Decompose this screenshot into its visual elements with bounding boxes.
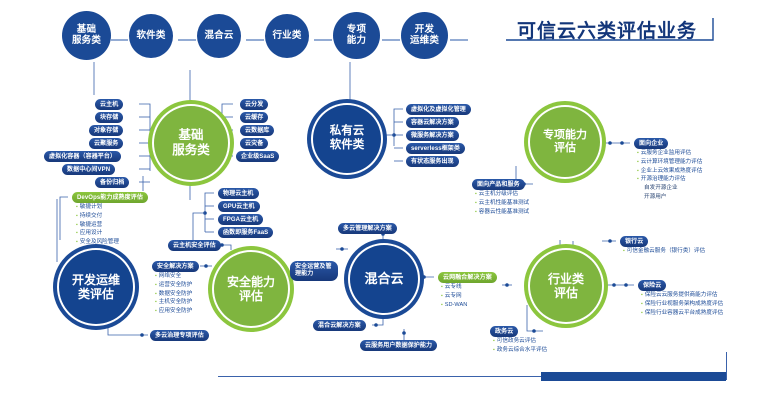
list-item: 可信政务云评估 bbox=[493, 337, 547, 346]
bottom-right-tick bbox=[726, 352, 727, 380]
top-node-line: 混合云 bbox=[204, 31, 233, 42]
chip-facing-product-service[interactable]: 面向产品和服务 bbox=[472, 179, 525, 190]
list-item: 云专线 bbox=[441, 283, 467, 292]
top-node-line: 行业类 bbox=[272, 31, 301, 42]
list-item: 保险云云服务提供商能力评估 bbox=[641, 291, 723, 300]
chip-virtualization-mgmt[interactable]: 虚拟化及虚拟化管理 bbox=[406, 104, 471, 115]
top-node-industry[interactable]: 行业类 bbox=[265, 14, 309, 58]
list-item: 主机安全防护 bbox=[155, 298, 192, 307]
list-item: 开源治理能力评估 bbox=[637, 175, 702, 184]
chip-backup-archive[interactable]: 备份归档 bbox=[95, 177, 129, 188]
chip-faas[interactable]: 函数即服务FaaS bbox=[218, 227, 273, 238]
list-item: 保险行业容器云平台成熟度评估 bbox=[641, 309, 723, 318]
list-gov-items: 可信政务云评估 政务云综合水平评估 bbox=[493, 337, 547, 355]
page-title: 可信云六类评估业务 bbox=[517, 16, 697, 43]
list-devops-items: 敏捷计划 持续交付 敏捷运营 应用设计 安全及风险管理 bbox=[76, 203, 119, 247]
chip-cloud-host[interactable]: 云主机 bbox=[95, 99, 123, 110]
top-node-line: 基础 bbox=[72, 25, 101, 36]
top-node-line: 开发 bbox=[410, 25, 439, 36]
list-item: 运营安全防护 bbox=[155, 281, 192, 290]
list-item: 持续交付 bbox=[76, 212, 119, 221]
chip-virtual-container[interactable]: 虚拟化容器（容器平台） bbox=[44, 151, 121, 162]
list-item: 容器云性能基准测试 bbox=[475, 208, 529, 217]
chip-container-cloud[interactable]: 容器云解决方案 bbox=[406, 117, 459, 128]
chip-cloud-network[interactable]: 云网融合解决方案 bbox=[438, 272, 497, 283]
list-item: 政务云综合水平评估 bbox=[493, 346, 547, 355]
top-node-basic-service[interactable]: 基础服务类 bbox=[62, 11, 111, 60]
chip-security-solution[interactable]: 安全解决方案 bbox=[152, 261, 199, 272]
list-item: 数据安全防护 bbox=[155, 290, 192, 299]
top-node-line: 专项 bbox=[347, 25, 366, 36]
hub-label-line: 行业类 bbox=[548, 272, 584, 286]
hub-label-line: 评估 bbox=[239, 289, 263, 303]
hub-special-capability[interactable]: 专项能力 评估 bbox=[528, 105, 602, 179]
top-node-software[interactable]: 软件类 bbox=[129, 14, 173, 58]
top-node-line: 能力 bbox=[347, 36, 366, 47]
list-product-items: 云主机分级评估 云主机性能基准测试 容器云性能基准测试 bbox=[475, 190, 529, 216]
chip-gov-cloud[interactable]: 政务云 bbox=[490, 326, 518, 337]
hub-label-line: 软件类 bbox=[330, 139, 365, 153]
chip-block-storage[interactable]: 块存储 bbox=[95, 112, 123, 123]
chip-multicloud-governance[interactable]: 多云治理专项评估 bbox=[150, 330, 209, 341]
chip-fpga-host[interactable]: FPGA云主机 bbox=[218, 214, 263, 225]
list-item: 企业上云效果成熟度评估 bbox=[637, 167, 702, 176]
hub-private-cloud-software[interactable]: 私有云 软件类 bbox=[311, 103, 383, 175]
list-insurance-items: 保险云云服务提供商能力评估 保险行业视服务架构成熟度评估 保险行业容器云平台成熟… bbox=[641, 291, 723, 317]
chip-bank-cloud[interactable]: 银行云 bbox=[620, 236, 648, 247]
list-item: 可信金融云服务（银行类）评估 bbox=[623, 247, 705, 256]
chip-dc-vpn[interactable]: 数据中心间VPN bbox=[62, 164, 115, 175]
top-node-hybrid-cloud[interactable]: 混合云 bbox=[197, 14, 241, 58]
list-item: 云主机性能基准测试 bbox=[475, 199, 529, 208]
chip-object-storage[interactable]: 对象存储 bbox=[89, 125, 123, 136]
list-item: 敏捷运营 bbox=[76, 221, 119, 230]
hub-label-line: 服务类 bbox=[172, 143, 210, 158]
chip-serverless[interactable]: serverless框架类 bbox=[406, 143, 465, 154]
chip-host-security-eval[interactable]: 云主机安全评估 bbox=[168, 240, 221, 251]
list-bank-items: 可信金融云服务（银行类）评估 bbox=[623, 247, 705, 256]
list-item: 云主机分级评估 bbox=[475, 190, 529, 199]
bottom-rule bbox=[218, 376, 593, 377]
chip-stateful-service[interactable]: 有状态服务出现 bbox=[406, 156, 459, 167]
hub-label-line: 专项能力 bbox=[543, 129, 587, 142]
list-subitem: 开源用户 bbox=[637, 193, 702, 202]
chip-multicloud-mgmt[interactable]: 多云管理解决方案 bbox=[338, 223, 397, 234]
list-item: 敏捷计划 bbox=[76, 203, 119, 212]
bottom-accent-bar bbox=[541, 372, 726, 381]
chip-insurance-cloud[interactable]: 保险云 bbox=[638, 280, 666, 291]
list-enterprise-items: 云服务企业监用评估 云计算环境管理能力评估 企业上云效果成熟度评估 开源治理能力… bbox=[637, 149, 702, 201]
top-node-line: 服务类 bbox=[72, 36, 101, 47]
chip-physical-host[interactable]: 物理云主机 bbox=[218, 188, 259, 199]
top-node-devops[interactable]: 开发运维类 bbox=[401, 12, 448, 59]
list-item: 应用设计 bbox=[76, 229, 119, 238]
hub-label-line: 私有云 bbox=[330, 125, 365, 139]
chip-microservice[interactable]: 微服务解决方案 bbox=[406, 130, 459, 141]
chip-security-ops[interactable]: 安全运营及管理能力 bbox=[290, 261, 338, 281]
list-subitem: 自发开源企业 bbox=[637, 184, 702, 193]
chip-cloud-dr[interactable]: 云灾备 bbox=[240, 138, 268, 149]
hub-label-line: 混合云 bbox=[364, 271, 403, 287]
chip-cloud-distribution[interactable]: 云聚服务 bbox=[89, 138, 123, 149]
hub-label-line: 基础 bbox=[178, 128, 203, 143]
chip-devops-maturity[interactable]: DevOps能力成熟度评估 bbox=[72, 192, 148, 203]
list-item: 应用安全防护 bbox=[155, 307, 192, 316]
top-node-special-capability[interactable]: 专项能力 bbox=[333, 12, 380, 59]
hub-label-line: 评估 bbox=[554, 142, 576, 155]
top-node-line: 软件类 bbox=[136, 31, 165, 42]
chip-gpu-host[interactable]: GPU云主机 bbox=[218, 201, 260, 212]
chip-cloud-cdn[interactable]: 云分发 bbox=[240, 99, 268, 110]
list-item: 云计算环境管理能力评估 bbox=[637, 158, 702, 167]
hub-label-line: 评估 bbox=[554, 286, 578, 300]
list-item: 云服务企业监用评估 bbox=[637, 149, 702, 158]
hub-security-capability[interactable]: 安全能力 评估 bbox=[212, 250, 290, 328]
hub-hybrid-cloud[interactable]: 混合云 bbox=[348, 243, 420, 315]
list-item: 云专网 bbox=[441, 292, 467, 301]
chip-enterprise-saas[interactable]: 企业级SaaS bbox=[236, 151, 279, 162]
hub-label-line: 安全能力 bbox=[227, 275, 275, 289]
list-item: 安全及风险管理 bbox=[76, 238, 119, 247]
list-item: 保险行业视服务架构成熟度评估 bbox=[641, 300, 723, 309]
chip-cloud-cache[interactable]: 云缓存 bbox=[240, 112, 268, 123]
chip-cloud-database[interactable]: 云数据库 bbox=[240, 125, 274, 136]
diagram-canvas: 基础服务类 软件类 混合云 行业类 专项能力 开发运维类 可信云六类评估业务 基… bbox=[0, 0, 761, 400]
hub-industry[interactable]: 行业类 评估 bbox=[528, 248, 604, 324]
hub-devops[interactable]: 开发运维 类评估 bbox=[57, 248, 135, 326]
chip-hybrid-solution[interactable]: 混合云解决方案 bbox=[313, 320, 366, 331]
hub-label-line: 类评估 bbox=[78, 287, 114, 301]
list-security-items: 网络安全 运营安全防护 数据安全防护 主机安全防护 应用安全防护 bbox=[155, 272, 192, 316]
chip-facing-enterprise[interactable]: 面向企业 bbox=[634, 138, 668, 149]
list-item: 网络安全 bbox=[155, 272, 192, 281]
list-item: SD-WAN bbox=[441, 301, 467, 310]
hub-label-line: 开发运维 bbox=[72, 273, 120, 287]
top-node-line: 运维类 bbox=[410, 36, 439, 47]
hub-basic-service[interactable]: 基础 服务类 bbox=[152, 104, 230, 182]
chip-user-data-protection[interactable]: 云服务用户数据保护能力 bbox=[360, 340, 437, 351]
list-cloud-network-items: 云专线 云专网 SD-WAN bbox=[441, 283, 467, 309]
